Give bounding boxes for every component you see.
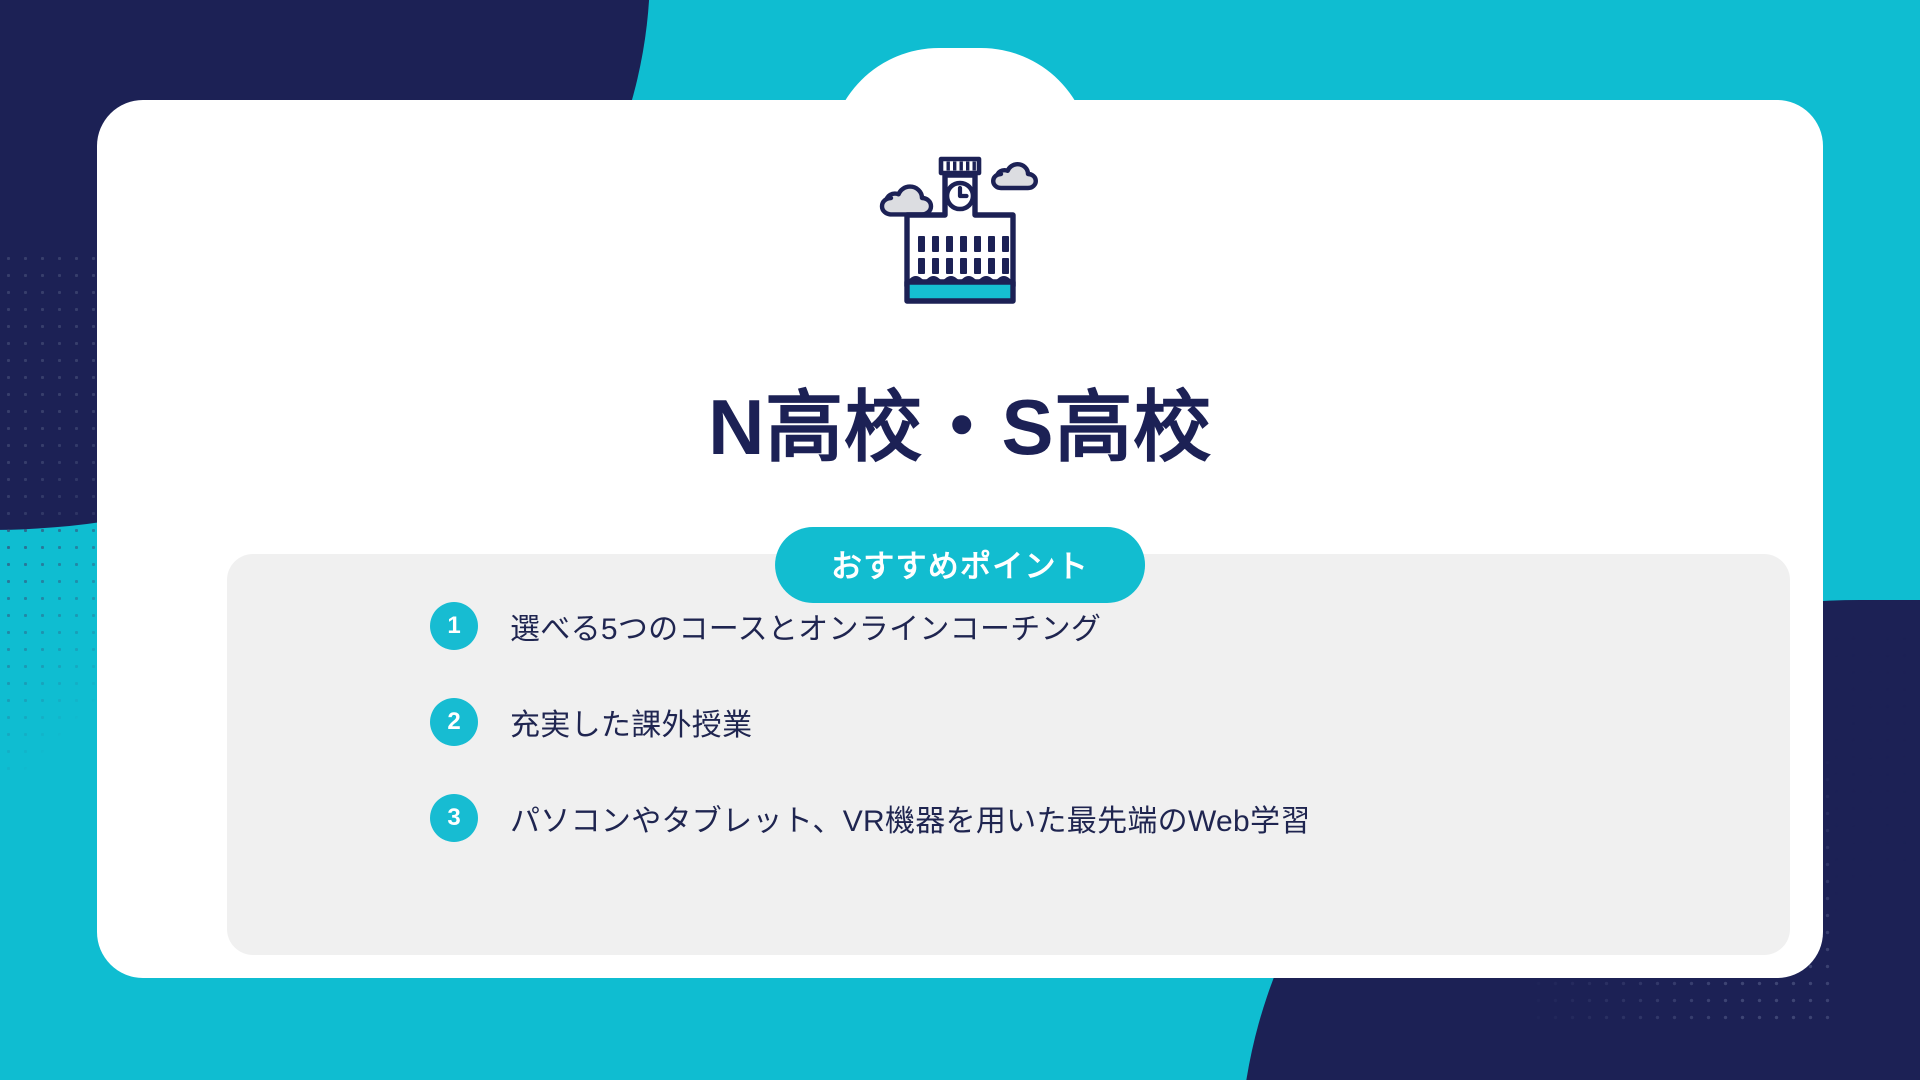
cloud-right: [993, 164, 1036, 188]
point-number-badge: 3: [430, 794, 478, 842]
school-building-icon: [97, 152, 1823, 308]
page-title: N高校・S高校: [97, 385, 1823, 471]
clock-icon: [947, 183, 973, 209]
point-text: 充実した課外授業: [510, 700, 752, 744]
list-item[interactable]: 1 選べる5つのコースとオンラインコーチング: [430, 602, 1750, 650]
recommended-points-badge: おすすめポイント: [775, 527, 1145, 603]
tower-railing: [941, 159, 979, 173]
point-text: 選べる5つのコースとオンラインコーチング: [510, 604, 1101, 648]
points-list: 1 選べる5つのコースとオンラインコーチング 2 充実した課外授業 3 パソコン…: [430, 602, 1750, 842]
point-number-badge: 1: [430, 602, 478, 650]
list-item[interactable]: 3 パソコンやタブレット、VR機器を用いた最先端のWeb学習: [430, 794, 1750, 842]
list-item[interactable]: 2 充実した課外授業: [430, 698, 1750, 746]
cloud-left: [882, 187, 931, 215]
point-number-badge: 2: [430, 698, 478, 746]
point-text: パソコンやタブレット、VR機器を用いた最先端のWeb学習: [510, 796, 1311, 840]
slide-canvas: N高校・S高校 おすすめポイント 1 選べる5つのコースとオンラインコーチング …: [0, 0, 1920, 1080]
content-card: N高校・S高校 おすすめポイント 1 選べる5つのコースとオンラインコーチング …: [97, 100, 1823, 978]
points-panel: 1 選べる5つのコースとオンラインコーチング 2 充実した課外授業 3 パソコン…: [227, 554, 1790, 955]
building-base: [907, 278, 1013, 301]
card-top-notch: [829, 48, 1091, 158]
